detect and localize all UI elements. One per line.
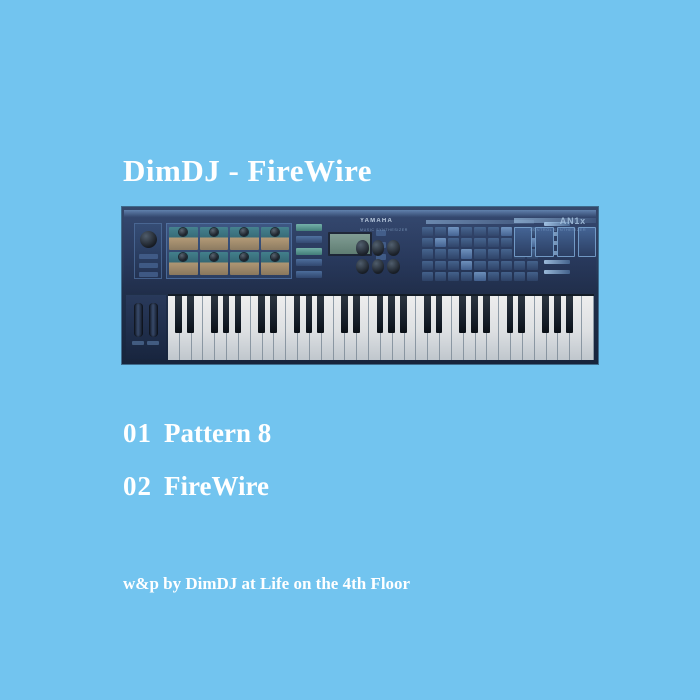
white-key: [369, 296, 381, 360]
track-number: 01: [123, 420, 152, 447]
album-title: DimDJ - FireWire: [123, 155, 372, 186]
black-key: [270, 296, 277, 333]
pitch-wheel-label: [132, 341, 144, 345]
track-row: 02FireWire: [123, 473, 271, 500]
function-button: [296, 236, 322, 243]
joystick-button-1: [139, 254, 158, 259]
joystick-button-3: [139, 272, 158, 277]
black-key: [377, 296, 384, 333]
black-key: [258, 296, 265, 333]
white-key: [452, 296, 464, 360]
matrix-button: [422, 227, 433, 236]
black-key: [483, 296, 490, 333]
function-button: [296, 271, 322, 278]
joystick-knob: [140, 231, 157, 248]
black-key: [317, 296, 324, 333]
matrix-button: [488, 272, 499, 281]
black-key: [436, 296, 443, 333]
function-button: [296, 259, 322, 266]
yamaha-logo: YAMAHA: [360, 218, 393, 224]
matrix-button: [448, 249, 459, 258]
model-subtitle: CONTROL SYNTHESIZER: [530, 227, 586, 232]
black-key: [341, 296, 348, 333]
matrix-button: [474, 272, 485, 281]
black-key: [353, 296, 360, 333]
tuning-knob: [372, 259, 385, 275]
matrix-button: [422, 238, 433, 247]
matrix-button: [448, 238, 459, 247]
album-cover: DimDJ - FireWire: [0, 0, 700, 700]
matrix-button: [501, 272, 512, 281]
knob-matrix-panel: [166, 223, 292, 279]
matrix-button: [488, 249, 499, 258]
tracklist: 01Pattern 8 02FireWire: [123, 420, 271, 526]
joystick-module: [134, 223, 162, 279]
knob-cell: [261, 227, 290, 250]
track-row: 01Pattern 8: [123, 420, 271, 447]
matrix-button: [488, 261, 499, 270]
matrix-button: [422, 261, 433, 270]
white-key: [334, 296, 346, 360]
matrix-button: [461, 249, 472, 258]
function-button-column: [296, 224, 322, 278]
model-name: AN1x: [560, 216, 586, 226]
yamaha-subtitle: MUSIC SYNTHESIZER: [360, 228, 408, 232]
matrix-button: [422, 249, 433, 258]
piano-keyboard: [168, 294, 594, 360]
knob-cell: [169, 252, 198, 275]
black-key: [471, 296, 478, 333]
matrix-button: [488, 238, 499, 247]
black-key: [235, 296, 242, 333]
white-key: [168, 296, 180, 360]
knob-cell: [230, 227, 259, 250]
black-key: [424, 296, 431, 333]
modulation-wheel: [149, 303, 158, 337]
track-title: FireWire: [164, 471, 269, 501]
matrix-button: [474, 261, 485, 270]
matrix-button: [435, 261, 446, 270]
black-key: [187, 296, 194, 333]
tuning-knob: [387, 259, 400, 275]
knob-cell: [200, 227, 229, 250]
tuning-knob-group: [356, 240, 400, 274]
black-key: [554, 296, 561, 333]
matrix-button: [474, 227, 485, 236]
matrix-button: [474, 249, 485, 258]
tuning-knob: [372, 240, 385, 256]
white-key: [286, 296, 298, 360]
matrix-button: [461, 272, 472, 281]
track-number: 02: [123, 473, 152, 500]
matrix-button: [448, 261, 459, 270]
matrix-button: [501, 261, 512, 270]
synth-control-surface: YAMAHA MUSIC SYNTHESIZER: [124, 210, 596, 294]
tuning-knob: [356, 259, 369, 275]
pitch-mod-wheel-panel: [126, 295, 166, 359]
black-key: [518, 296, 525, 333]
matrix-button: [501, 238, 512, 247]
white-key: [416, 296, 428, 360]
mod-wheel-label: [147, 341, 159, 345]
black-key: [388, 296, 395, 333]
black-key: [306, 296, 313, 333]
matrix-button: [474, 238, 485, 247]
tuning-knob: [387, 240, 400, 256]
black-key: [211, 296, 218, 333]
synthesizer-photo: YAMAHA MUSIC SYNTHESIZER: [122, 207, 598, 364]
matrix-button: [461, 227, 472, 236]
white-key: [582, 296, 594, 360]
matrix-button: [435, 227, 446, 236]
black-key: [459, 296, 466, 333]
matrix-button: [501, 227, 512, 236]
matrix-button: [448, 272, 459, 281]
credits-line: w&p by DimDJ at Life on the 4th Floor: [123, 575, 410, 592]
black-key: [175, 296, 182, 333]
surface-highlight: [124, 210, 596, 217]
matrix-button: [435, 238, 446, 247]
tuning-knob: [356, 240, 369, 256]
knob-cell: [169, 227, 198, 250]
knob-cell: [261, 252, 290, 275]
black-key: [542, 296, 549, 333]
matrix-button: [488, 227, 499, 236]
matrix-button: [435, 272, 446, 281]
matrix-button: [422, 272, 433, 281]
matrix-button: [501, 249, 512, 258]
knob-cell: [230, 252, 259, 275]
function-button: [296, 248, 322, 255]
white-key: [203, 296, 215, 360]
pitch-bend-wheel: [134, 303, 143, 337]
white-key: [499, 296, 511, 360]
black-key: [223, 296, 230, 333]
white-key: [251, 296, 263, 360]
knob-cell: [200, 252, 229, 275]
matrix-button: [448, 227, 459, 236]
matrix-button: [435, 249, 446, 258]
matrix-button: [461, 238, 472, 247]
black-key: [400, 296, 407, 333]
white-key: [535, 296, 547, 360]
black-key: [294, 296, 301, 333]
track-title: Pattern 8: [164, 418, 271, 448]
matrix-button: [461, 261, 472, 270]
function-button: [296, 224, 322, 231]
black-key: [507, 296, 514, 333]
joystick-button-2: [139, 263, 158, 268]
black-key: [566, 296, 573, 333]
